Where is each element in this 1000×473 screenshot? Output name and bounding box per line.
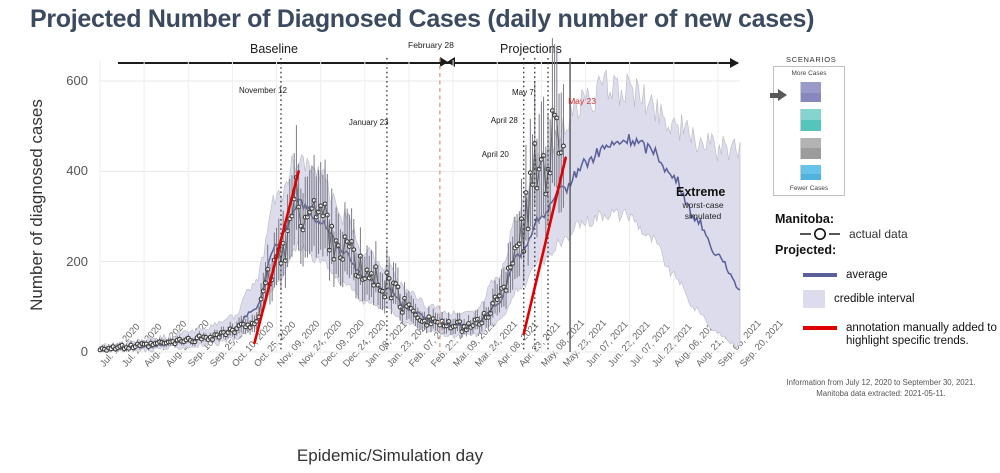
scenarios-fewer-label: Fewer Cases <box>774 185 844 192</box>
legend-annotation-text: annotation manually added to highlight s… <box>846 322 997 348</box>
scenarios-more-label: More Cases <box>774 70 844 77</box>
chart-footnote: Information from July 12, 2020 to Septem… <box>762 378 1000 399</box>
legend-manitoba-heading: Manitoba: <box>775 212 1000 226</box>
legend-annotation-line-2: highlight specific trends. <box>846 335 969 347</box>
scenario-purple-light[interactable] <box>800 82 821 93</box>
chart-plot-area: Number of diagnosed cases Epidemic/Simul… <box>0 0 760 473</box>
chart-canvas <box>0 0 760 473</box>
footnote-line-1: Information from July 12, 2020 to Septem… <box>787 378 976 387</box>
scenario-gray-dark[interactable] <box>800 148 821 159</box>
annotation-april-28: April 28 <box>491 116 518 125</box>
scenarios-color-strip[interactable] <box>800 82 820 180</box>
legend-credible-interval-label: credible interval <box>834 293 915 306</box>
scenario-purple-dark[interactable] <box>800 93 821 102</box>
annotation-may-23: May 23 <box>568 96 596 106</box>
annotation-extreme-sub-1: worst-case <box>668 200 738 210</box>
legend-item-average: average <box>803 269 1000 282</box>
scenarios-box[interactable]: More Cases Fewer Cases <box>773 66 845 196</box>
credible-interval-swatch-icon <box>803 290 825 308</box>
legend-projected-heading: Projected: <box>775 243 1000 257</box>
scenarios-title: SCENARIOS <box>786 55 836 64</box>
actual-data-marker-icon <box>799 227 841 241</box>
footnote-line-2: Manitoba data extracted: 2021-05-11. <box>816 389 945 398</box>
annotation-january-23: January 23 <box>349 118 389 127</box>
chart-page: Projected Number of Diagnosed Cases (dai… <box>0 0 1000 473</box>
legend-item-credible-interval: credible interval <box>803 290 1000 308</box>
scenario-teal-light[interactable] <box>800 109 821 120</box>
legend-item-annotation: annotation manually added to highlight s… <box>803 322 1000 348</box>
annotation-april-20: April 20 <box>482 150 509 159</box>
scenario-gap-2 <box>800 131 820 138</box>
annotation-november-12: November 12 <box>239 86 287 95</box>
scenario-gap-1 <box>800 102 820 109</box>
actual-data-series <box>98 38 565 352</box>
legend-average-label: average <box>846 269 888 282</box>
legend-annotation-line-1: annotation manually added to <box>846 322 997 334</box>
scenario-teal-dark[interactable] <box>800 120 821 131</box>
average-line-swatch-icon <box>803 273 837 277</box>
annotation-extreme: Extreme <box>676 185 725 199</box>
chart-legend: Manitoba: actual data Projected: average… <box>775 210 1000 348</box>
scenario-blue-light[interactable] <box>800 165 821 174</box>
legend-item-actual-data: actual data <box>799 227 1000 241</box>
scenario-blue-dark[interactable] <box>800 174 821 180</box>
credible-interval-band <box>100 70 740 352</box>
annotation-may-7: May 7 <box>512 88 534 97</box>
annotation-line-swatch-icon <box>803 326 837 330</box>
legend-actual-data-label: actual data <box>849 227 908 241</box>
annotation-extreme-sub-2: simulated <box>668 211 738 221</box>
scenario-gray-light[interactable] <box>800 138 821 148</box>
scenario-selector-arrow-tail-icon <box>770 93 780 98</box>
